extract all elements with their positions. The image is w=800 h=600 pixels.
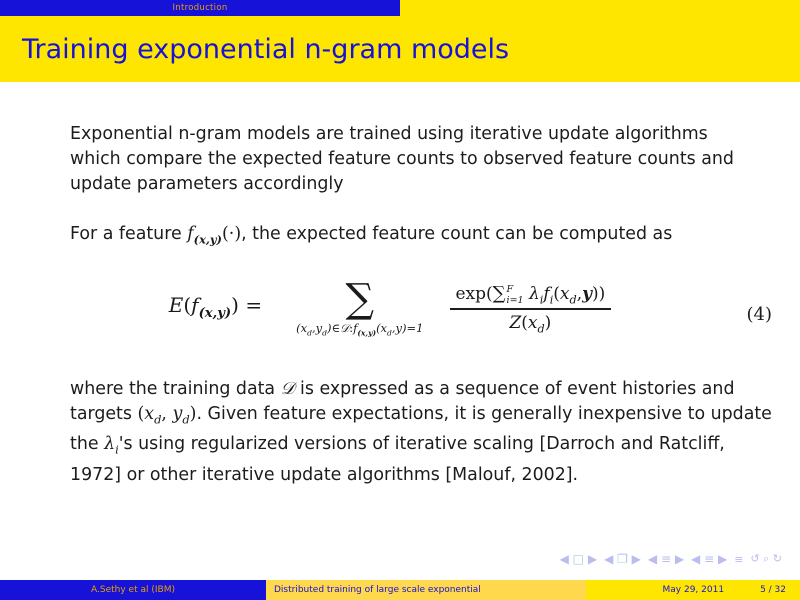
numerator-sigma-lower: i=1 <box>507 296 524 306</box>
denominator-paren-close: ) <box>545 313 552 333</box>
numerator-lambda: λ <box>529 284 540 304</box>
equation-fraction: exp(∑Fi=1 λifi(xd,y)) Z(xd) <box>450 283 612 335</box>
p3-text-a: where the training data <box>70 379 281 399</box>
numerator-args-open: ( <box>553 284 560 304</box>
footer-date: May 29, 2011 <box>663 585 725 595</box>
feature-function-argument: (·) <box>222 224 241 244</box>
footer-author: A.Sethy et al (IBM) <box>0 580 266 600</box>
paragraph-intro: Exponential n-gram models are trained us… <box>70 122 760 197</box>
limit-element-of: ∈ <box>331 321 340 335</box>
numerator-args-x: x <box>560 284 570 304</box>
lhs-equals-sign: = <box>239 293 262 317</box>
partition-function-symbol: Z <box>509 313 521 333</box>
nav-prev-frame-icon[interactable]: ◀ ❐ ▶ <box>604 552 641 566</box>
summation-block: ∑ (xd,yd)∈𝒟:f(x,y)(xd,y)=1 <box>296 277 423 337</box>
denominator-x-subscript: d <box>537 322 544 335</box>
lhs-paren-open: ( <box>183 293 191 317</box>
numerator-sigma-upper: F <box>507 285 524 295</box>
limit-args-open: (x <box>376 321 387 335</box>
numerator-close-parens: )) <box>592 284 605 304</box>
dataset-symbol: 𝒟 <box>281 379 295 399</box>
paragraph-training-data: where the training data 𝒟 is expressed a… <box>70 377 775 488</box>
nav-search-icon[interactable]: ↺ ⌕ ↻ <box>750 552 782 566</box>
headline-bar-filler <box>400 0 800 16</box>
headline-navigation-bar: Introduction <box>0 0 800 16</box>
nav-first-slide-icon[interactable]: ◀ □ ▶ <box>560 552 597 566</box>
numerator-exp-open: exp( <box>456 284 493 304</box>
limit-dataset-symbol: 𝒟 <box>340 321 349 335</box>
section-tab-introduction[interactable]: Introduction <box>0 0 400 16</box>
pair-comma: , <box>161 404 172 424</box>
section-tab-label: Introduction <box>172 4 227 13</box>
numerator-sigma-limits: Fi=1 <box>507 285 524 305</box>
nav-back-section-icon[interactable]: ◀ ≡ ▶ <box>648 552 684 566</box>
lhs-feature-symbol: f <box>191 293 198 317</box>
lambda-symbol: λ <box>104 434 115 454</box>
fraction-numerator: exp(∑Fi=1 λifi(xd,y)) <box>450 283 612 308</box>
title-band: Training exponential n-gram models <box>0 16 800 82</box>
summation-limit: (xd,yd)∈𝒟:f(x,y)(xd,y)=1 <box>296 321 423 337</box>
numerator-args-x-subscript: d <box>570 293 577 306</box>
fraction-denominator: Z(xd) <box>509 310 551 335</box>
equation-left-hand-side: E(f(x,y)) = <box>169 277 262 321</box>
nav-back-subsection-icon[interactable]: ◀ ≡ ▶ <box>691 552 727 566</box>
p3-text-d: 's using regularized versions of iterati… <box>70 434 725 484</box>
limit-args-rest: ,y)=1 <box>392 321 424 335</box>
slide-content: Exponential n-gram models are trained us… <box>0 82 800 550</box>
paragraph-feature-text-after: , the expected feature count can be comp… <box>241 224 672 244</box>
pair-x: x <box>144 404 154 424</box>
slide-footer: A.Sethy et al (IBM) Distributed training… <box>0 580 800 600</box>
equation-4: E(f(x,y)) = ∑ (xd,yd)∈𝒟:f(x,y)(xd,y)=1 e… <box>0 277 800 367</box>
page-title: Training exponential n-gram models <box>22 36 509 63</box>
summation-sigma-glyph: ∑ <box>346 279 375 319</box>
footer-short-title: Distributed training of large scale expo… <box>266 580 586 600</box>
lhs-paren-close: ) <box>231 293 239 317</box>
equation-number: (4) <box>747 304 773 325</box>
footer-right-section: May 29, 2011 5 / 32 <box>586 580 800 600</box>
numerator-sigma-glyph: ∑ <box>493 283 506 304</box>
numerator-args-y: y <box>582 284 592 304</box>
pair-y-subscript: d <box>182 412 189 426</box>
paragraph-feature-definition: For a feature f(x,y)(·), the expected fe… <box>70 222 780 252</box>
beamer-navigation-symbols[interactable]: ◀ □ ▶ ◀ ❐ ▶ ◀ ≡ ▶ ◀ ≡ ▶ ≡ ↺ ⌕ ↻ <box>560 552 782 566</box>
denominator-paren-open: ( <box>521 313 528 333</box>
equation-expression: E(f(x,y)) = ∑ (xd,yd)∈𝒟:f(x,y)(xd,y)=1 e… <box>169 277 612 337</box>
feature-function-subscript: (x,y) <box>194 232 222 246</box>
expectation-operator: E <box>169 293 184 317</box>
pair-y: y <box>172 404 182 424</box>
paragraph-feature-text-before: For a feature <box>70 224 187 244</box>
limit-feature-subscript: (x,y) <box>357 328 376 337</box>
lhs-feature-subscript: (x,y) <box>199 306 232 321</box>
nav-toc-icon[interactable]: ≡ <box>734 553 743 566</box>
footer-page-number: 5 / 32 <box>760 585 786 595</box>
